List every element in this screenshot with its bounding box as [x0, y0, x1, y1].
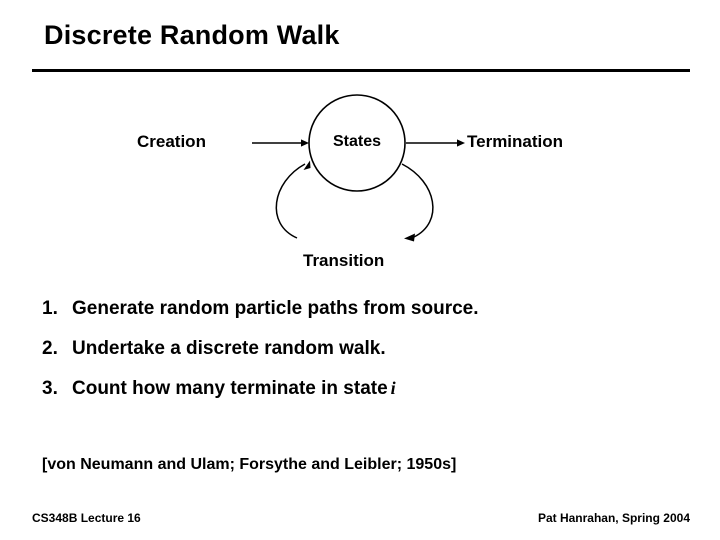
footer-course-label: CS348B Lecture 16 — [32, 511, 141, 525]
termination-arrowhead — [457, 139, 465, 146]
list-item: 2. Undertake a discrete random walk. — [42, 338, 682, 360]
list-item: 1. Generate random particle paths from s… — [42, 298, 682, 320]
list-item-body: Undertake a discrete random walk. — [72, 338, 386, 359]
list-item-body: Generate random particle paths from sour… — [72, 298, 479, 319]
transition-arc-left — [276, 164, 305, 238]
list-item-text: Count how many terminate in statei — [72, 378, 396, 400]
list-item-number: 3. — [42, 378, 72, 400]
list-item: 3. Count how many terminate in statei — [42, 378, 682, 400]
list-item-text: Generate random particle paths from sour… — [72, 298, 479, 320]
slide: Discrete Random Walk States Creation Ter… — [0, 0, 720, 540]
steps-list: 1. Generate random particle paths from s… — [42, 298, 682, 418]
transition-label: Transition — [303, 251, 384, 271]
citation-text: [von Neumann and Ulam; Forsythe and Leib… — [42, 456, 456, 474]
list-item-text: Undertake a discrete random walk. — [72, 338, 386, 360]
transition-arrowhead-up — [304, 161, 311, 171]
state-index-variable: i — [388, 378, 396, 398]
footer-author-label: Pat Hanrahan, Spring 2004 — [538, 511, 690, 525]
transition-arc-right — [402, 164, 433, 237]
title-divider — [32, 69, 690, 72]
list-item-body: Count how many terminate in state — [72, 378, 388, 399]
list-item-number: 2. — [42, 338, 72, 360]
termination-label: Termination — [467, 132, 563, 152]
transition-arrowhead-left — [404, 234, 415, 242]
random-walk-diagram: States Creation Termination Transition — [0, 86, 720, 286]
creation-label: Creation — [137, 132, 206, 152]
list-item-number: 1. — [42, 298, 72, 320]
states-node-label: States — [308, 133, 406, 151]
page-title: Discrete Random Walk — [44, 20, 340, 51]
